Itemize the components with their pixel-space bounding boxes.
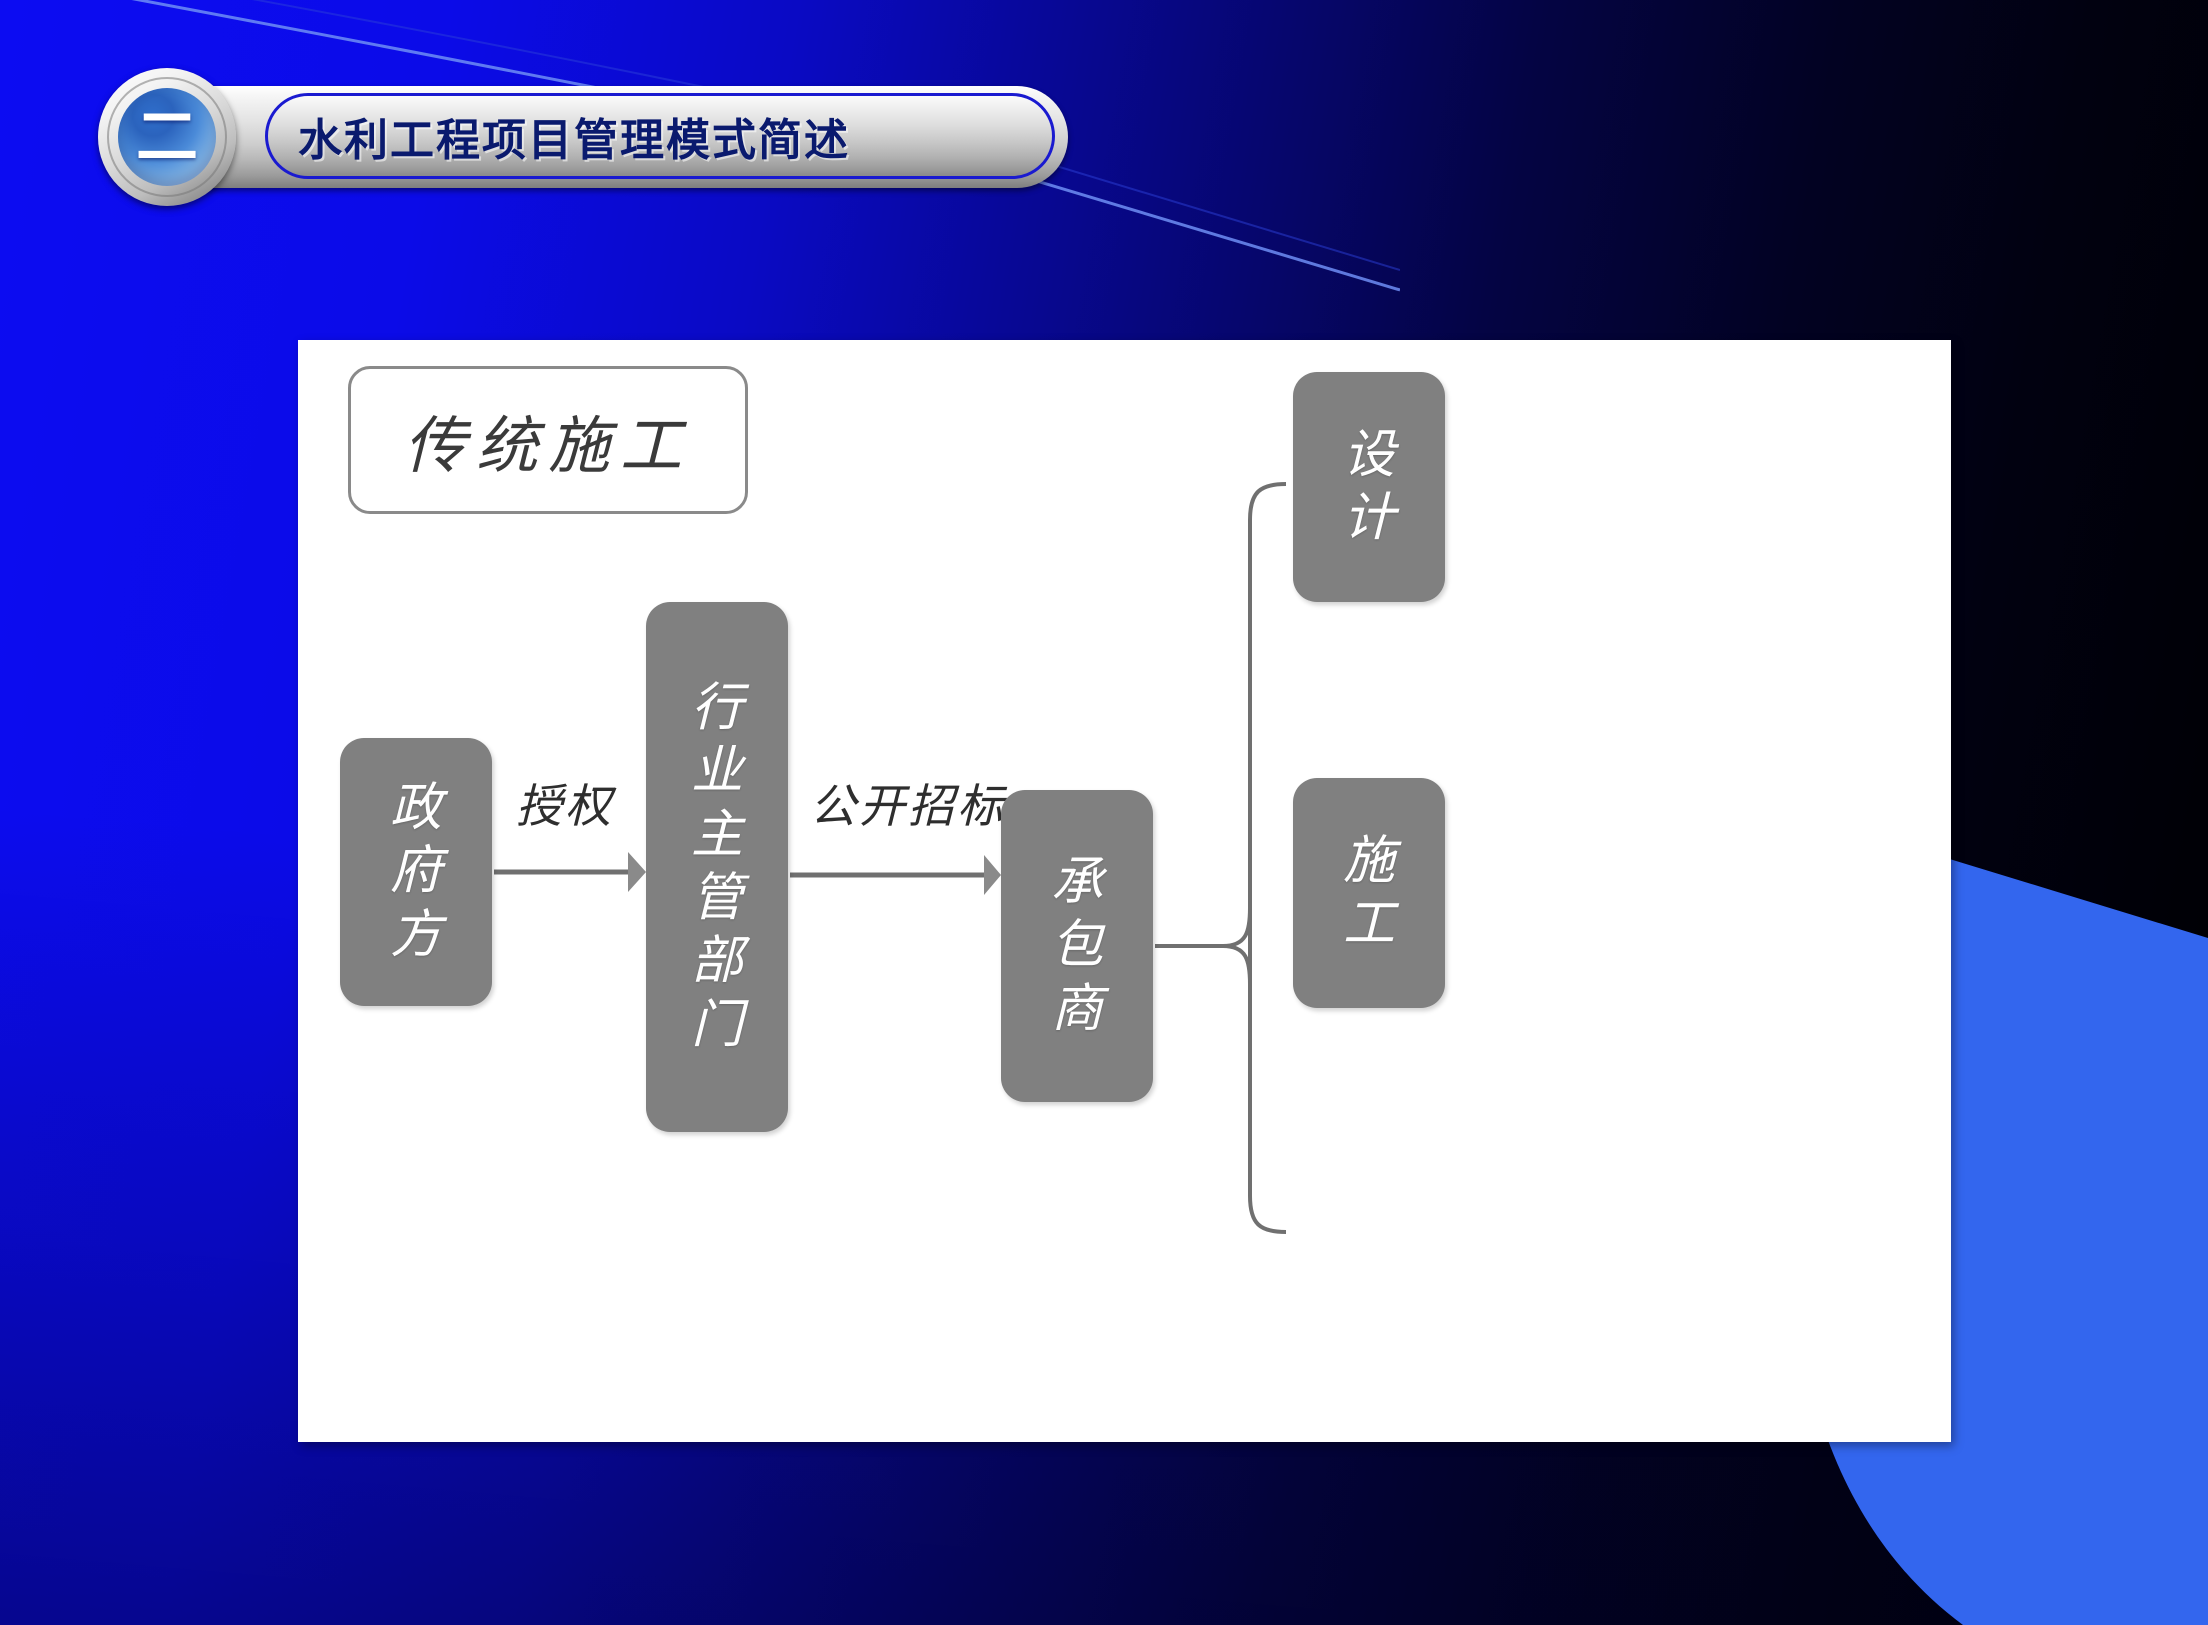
connector-label-public-bidding: 公开招标 (810, 770, 1006, 836)
process-diagram: 传统施工 授权 公开招标 或 政府方 行业主管部门 (298, 340, 1951, 1442)
node-design-label: 设计 (1343, 424, 1395, 551)
node-authority: 行业主管部门 (646, 602, 788, 1132)
node-construction-label: 施工 (1343, 830, 1395, 957)
section-label-text: 传统施工 (404, 395, 692, 485)
slide-title-bar: 水利工程项目管理模式简述 二 (148, 86, 1068, 188)
connector-label-authorize: 授权 (516, 770, 614, 836)
badge-number-label: 二 (118, 88, 216, 186)
page-title: 水利工程项目管理模式简述 (298, 104, 850, 168)
node-government: 政府方 (340, 738, 492, 1006)
number-two-badge-icon: 二 (98, 68, 236, 206)
section-label-box: 传统施工 (348, 366, 748, 514)
node-authority-label: 行业主管部门 (691, 677, 743, 1058)
node-design: 设计 (1293, 372, 1445, 602)
node-government-label: 政府方 (390, 777, 442, 967)
diagram-card: 传统施工 授权 公开招标 或 政府方 行业主管部门 (298, 340, 1951, 1442)
node-contractor: 承包商 (1001, 790, 1153, 1102)
badge-disc: 二 (118, 88, 216, 186)
slide-canvas: 水利工程项目管理模式简述 二 传统施工 (0, 0, 2208, 1625)
node-contractor-label: 承包商 (1051, 851, 1103, 1041)
node-construction: 施工 (1293, 778, 1445, 1008)
title-pill-inner: 水利工程项目管理模式简述 (265, 93, 1055, 179)
